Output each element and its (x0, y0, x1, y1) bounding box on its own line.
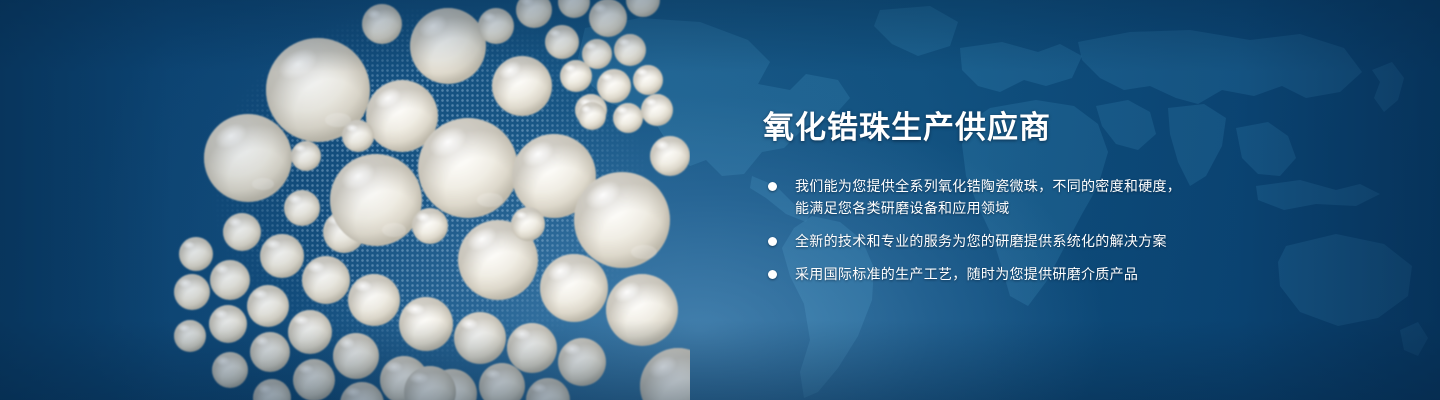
list-item-line-1: 全新的技术和专业的服务为您的研磨提供系统化的解决方案 (795, 230, 1233, 252)
list-item: 我们能为您提供全系列氧化锆陶瓷微珠，不同的密度和硬度， 能满足您各类研磨设备和应… (763, 175, 1233, 219)
bullet-dot-icon (768, 237, 777, 246)
bullet-dot-icon (768, 182, 777, 191)
list-item-line-1: 我们能为您提供全系列氧化锆陶瓷微珠，不同的密度和硬度， (795, 175, 1233, 197)
bead-cluster (130, 0, 690, 400)
feature-list: 我们能为您提供全系列氧化锆陶瓷微珠，不同的密度和硬度， 能满足您各类研磨设备和应… (763, 175, 1233, 285)
zirconia-beads-image (130, 0, 690, 400)
bullet-dot-icon (768, 270, 777, 279)
banner-copy: 氧化锆珠生产供应商 我们能为您提供全系列氧化锆陶瓷微珠，不同的密度和硬度， 能满… (763, 108, 1233, 285)
list-item: 全新的技术和专业的服务为您的研磨提供系统化的解决方案 (763, 230, 1233, 252)
list-item-line-2: 能满足您各类研磨设备和应用领域 (795, 197, 1233, 219)
list-item-line-1: 采用国际标准的生产工艺，随时为您提供研磨介质产品 (795, 263, 1233, 285)
page-title: 氧化锆珠生产供应商 (763, 108, 1233, 148)
list-item: 采用国际标准的生产工艺，随时为您提供研磨介质产品 (763, 263, 1233, 285)
hero-banner: 氧化锆珠生产供应商 我们能为您提供全系列氧化锆陶瓷微珠，不同的密度和硬度， 能满… (0, 0, 1440, 400)
